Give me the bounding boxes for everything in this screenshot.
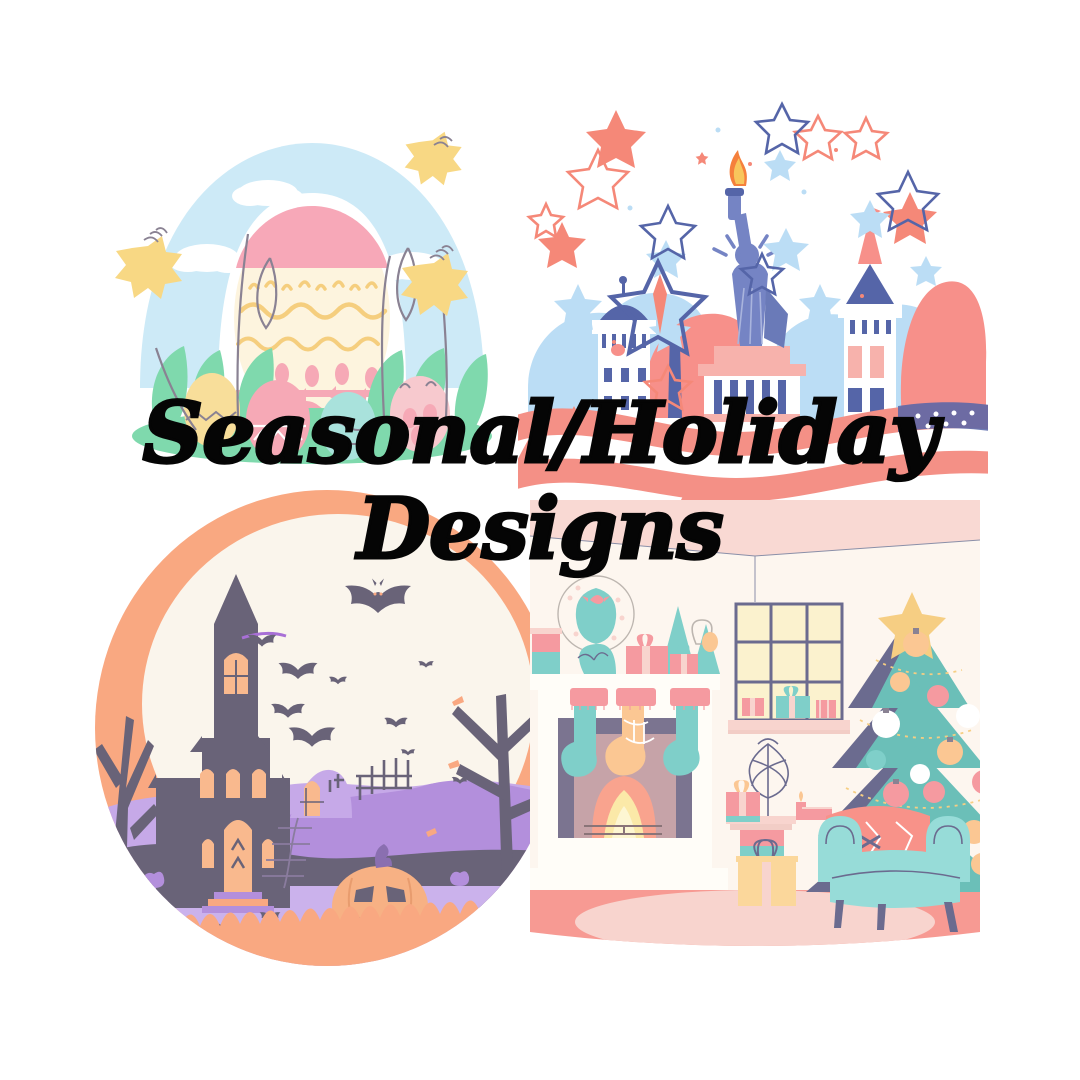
panel-christmas [530, 492, 980, 960]
july-clock-tower [838, 206, 902, 428]
panel-easter [100, 88, 520, 478]
panel-independence-day [518, 88, 988, 518]
christmas-window [728, 604, 850, 734]
halloween-grass [90, 898, 565, 968]
july-statue-of-liberty [698, 150, 806, 430]
poster-canvas: Seasonal/Holiday Designs [0, 0, 1080, 1080]
christmas-stockings [561, 688, 710, 777]
panel-halloween [90, 488, 565, 968]
